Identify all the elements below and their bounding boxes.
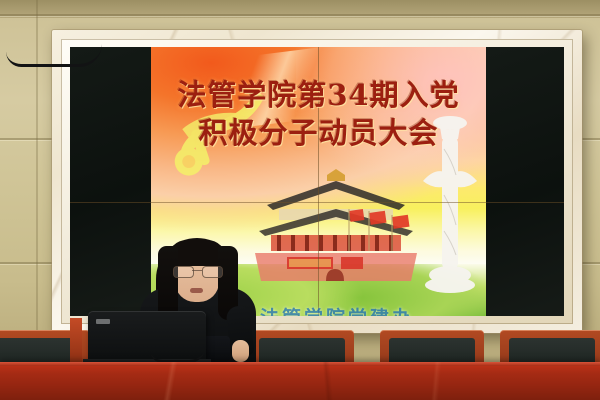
laptop-logo xyxy=(96,319,110,324)
glasses xyxy=(173,266,221,276)
tiananmen-gate-illustration xyxy=(249,165,424,283)
cable xyxy=(150,346,206,363)
led-panel-seam xyxy=(70,202,564,203)
screenshot-root: 法管学院第34期入党 积极分子动员大会 法管学院党建办 2018. 05. 04 xyxy=(0,0,600,400)
led-panel-seam xyxy=(318,47,319,316)
marble-picture-frame: 法管学院第34期入党 积极分子动员大会 法管学院党建办 2018. 05. 04 xyxy=(52,30,582,333)
hair-side-left xyxy=(158,246,178,320)
podium-post xyxy=(70,318,82,364)
desk-wood-grain xyxy=(0,362,600,400)
hand-right xyxy=(232,340,249,362)
glasses-bridge xyxy=(192,270,202,271)
podium-desk xyxy=(0,362,600,400)
slide-organizer: 法管学院党建办 xyxy=(260,303,414,316)
cable xyxy=(6,44,102,67)
mouth xyxy=(190,288,203,293)
led-panel-dark-left xyxy=(70,47,151,316)
glasses-lens-right xyxy=(202,266,223,278)
wall-seam xyxy=(0,14,600,16)
led-panel-dark-right xyxy=(486,47,564,316)
glasses-lens-left xyxy=(173,266,194,278)
